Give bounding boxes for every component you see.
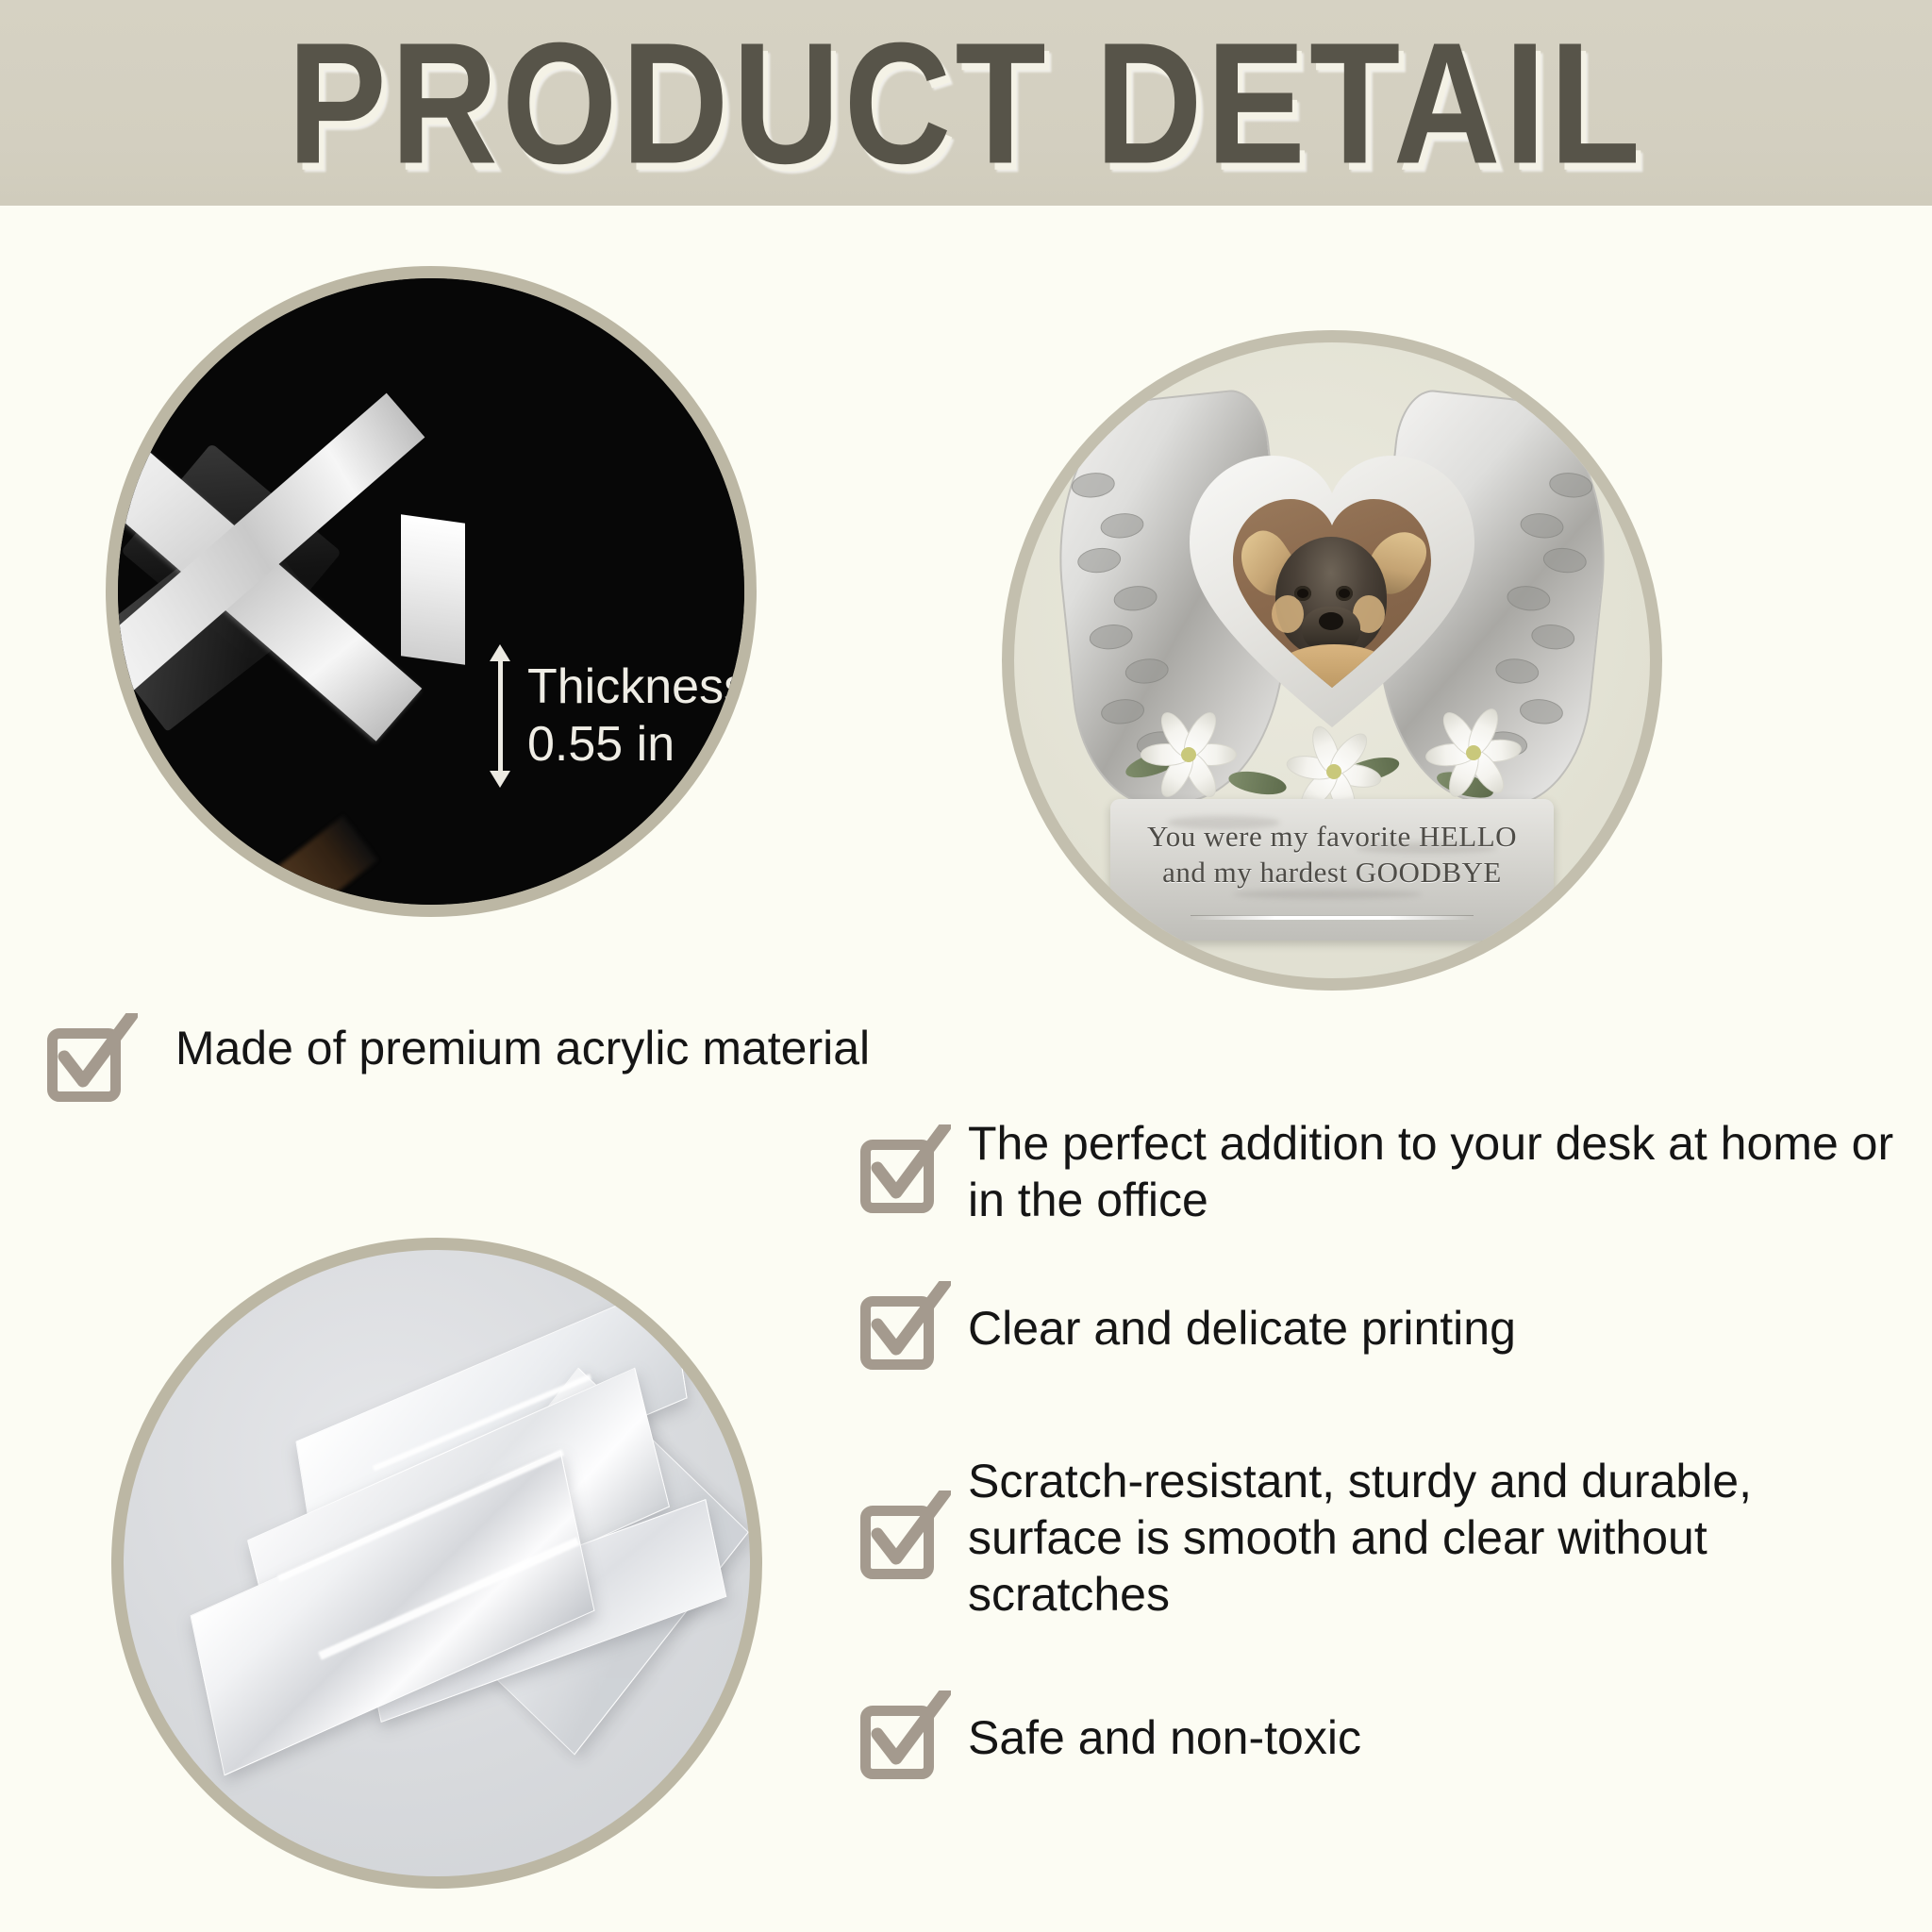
checkbox-checked-icon bbox=[857, 1694, 943, 1781]
dog-nose bbox=[1319, 612, 1343, 630]
dog-cheek-left bbox=[1272, 595, 1304, 633]
thickness-label: Thickness 0.55 in bbox=[527, 658, 748, 774]
acrylic-edge-face bbox=[401, 514, 465, 665]
feature-item-durability: Scratch-resistant, sturdy and durable, s… bbox=[857, 1453, 1913, 1623]
checkbox-checked-icon bbox=[857, 1128, 943, 1215]
feature-label: Scratch-resistant, sturdy and durable, s… bbox=[968, 1453, 1913, 1623]
feature-item-printing: Clear and delicate printing bbox=[857, 1285, 1913, 1372]
page-title: PRODUCT DETAIL bbox=[288, 17, 1644, 190]
feature-label: The perfect addition to your desk at hom… bbox=[968, 1115, 1913, 1228]
acrylic-edge-photo: Thickness 0.55 in bbox=[106, 266, 757, 917]
warm-reflection bbox=[254, 815, 378, 917]
base-groove bbox=[1191, 915, 1474, 920]
engraving-line-2: and my hardest GOODBYE bbox=[1162, 854, 1502, 891]
thickness-label-line1: Thickness bbox=[527, 658, 748, 716]
memorial-keepsake-photo: You were my favorite HELLO and my hardes… bbox=[1002, 330, 1662, 991]
dog-eye-left bbox=[1294, 586, 1311, 601]
feature-item-safety: Safe and non-toxic bbox=[857, 1694, 1913, 1781]
feature-item-desk: The perfect addition to your desk at hom… bbox=[857, 1115, 1913, 1228]
lily-flowers bbox=[1115, 693, 1549, 816]
feature-label: Safe and non-toxic bbox=[968, 1709, 1361, 1766]
acrylic-sheets-photo bbox=[111, 1238, 762, 1889]
keepsake-sculpture: You were my favorite HELLO and my hardes… bbox=[1014, 342, 1650, 978]
checkbox-checked-icon bbox=[857, 1285, 943, 1372]
feature-label: Clear and delicate printing bbox=[968, 1300, 1516, 1357]
lily-flower bbox=[1132, 703, 1245, 807]
lily-flower bbox=[1417, 701, 1530, 805]
memorial-base: You were my favorite HELLO and my hardes… bbox=[1110, 799, 1554, 941]
feature-label: Made of premium acrylic material bbox=[153, 1017, 892, 1076]
double-arrow-vertical-icon bbox=[488, 644, 512, 788]
edge-photo-backdrop bbox=[118, 278, 744, 905]
thickness-annotation: Thickness 0.55 in bbox=[488, 644, 748, 788]
thickness-label-line2: 0.55 in bbox=[527, 716, 748, 774]
feature-list: The perfect addition to your desk at hom… bbox=[857, 1115, 1913, 1830]
checkbox-checked-icon bbox=[857, 1494, 943, 1581]
heart-photo-frame bbox=[1186, 448, 1478, 731]
dog-eye-right bbox=[1336, 586, 1353, 601]
feature-item-material: Made of premium acrylic material bbox=[43, 1017, 892, 1104]
checkbox-checked-icon bbox=[43, 1017, 130, 1104]
header-band: PRODUCT DETAIL bbox=[0, 0, 1932, 206]
